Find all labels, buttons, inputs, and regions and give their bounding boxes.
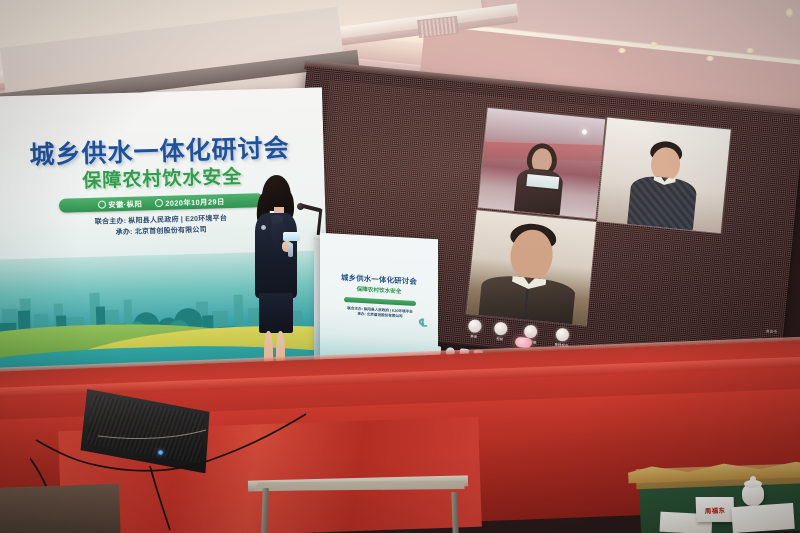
banner-date: 2020年10月29日 — [165, 197, 225, 208]
participant-figure — [629, 139, 699, 231]
presenter-badge-icon — [261, 225, 266, 230]
presenter-skirt — [259, 293, 293, 333]
downlight-icon — [706, 56, 714, 61]
lectern-info-pill — [344, 297, 416, 306]
location-pin-icon — [98, 200, 106, 208]
teacup-knob — [750, 476, 756, 482]
calendar-clock-icon — [155, 198, 163, 206]
conference-hall-photo: 静音 视频 共享屏幕 管理成员 会议中 — [0, 0, 800, 533]
banner-location-group: 安徽·枞阳 — [98, 198, 142, 210]
video-tile-participant-1[interactable] — [478, 108, 605, 219]
video-camera-icon[interactable] — [494, 322, 508, 336]
downlight-icon — [746, 48, 754, 53]
meeting-status-text: 会议中 — [766, 328, 778, 334]
handheld-microphone-body — [288, 243, 293, 257]
microphone-flag — [283, 232, 300, 241]
video-tile-participant-3[interactable] — [467, 210, 597, 325]
table-papers-right — [731, 503, 795, 533]
downlight-icon — [786, 8, 793, 17]
lectern-logo-icon: ℄ — [418, 316, 428, 330]
participants-icon[interactable] — [555, 328, 569, 342]
video-tile-participant-2[interactable] — [597, 118, 731, 234]
share-screen-icon[interactable] — [524, 324, 538, 338]
control-label-mute: 静音 — [462, 332, 485, 339]
microphone-icon[interactable] — [468, 319, 482, 333]
floor-carpet — [0, 484, 121, 533]
banner-date-group: 2020年10月29日 — [155, 196, 225, 209]
participant-figure — [479, 219, 582, 324]
lectern-subtitle: 保障农村饮水安全 — [338, 286, 420, 297]
lectern-organizers: 联合主办: 枞阳县人民政府 | E20环境平台 承办: 北京首创股份有限公司 — [340, 306, 420, 321]
control-label-video: 视频 — [488, 335, 511, 342]
name-placard-text: 周福东 — [700, 504, 730, 515]
banner-location: 安徽·枞阳 — [108, 199, 142, 209]
downlight-icon — [618, 48, 626, 53]
downlight-icon — [650, 42, 658, 47]
presenter-hair — [262, 175, 291, 211]
